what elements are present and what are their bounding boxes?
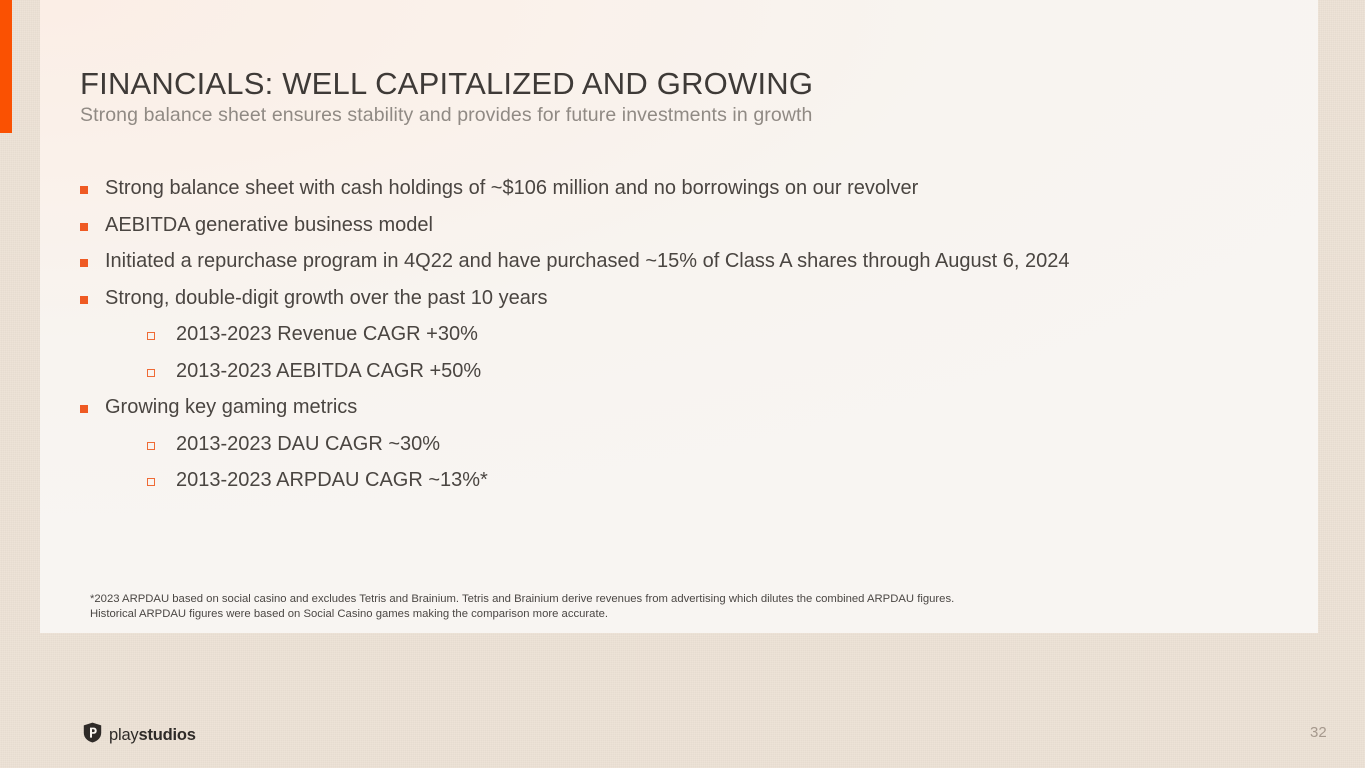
wordmark-play: play [109,726,138,744]
sub-list-item-label: 2013-2023 ARPDAU CAGR ~13%* [176,467,488,490]
list-item-label: Strong, double-digit growth over the pas… [105,285,547,308]
hollow-square-bullet-icon [147,442,155,450]
sub-list-item: 2013-2023 DAU CAGR ~30% [80,431,1288,468]
page-title: FINANCIALS: WELL CAPITALIZED AND GROWING [80,66,813,102]
sub-list-item-label: 2013-2023 DAU CAGR ~30% [176,431,440,454]
sub-list-item: 2013-2023 ARPDAU CAGR ~13%* [80,467,1288,504]
filled-square-bullet-icon [80,259,88,267]
page-number: 32 [1310,724,1327,741]
filled-square-bullet-icon [80,223,88,231]
footnote-line-1: *2023 ARPDAU based on social casino and … [90,592,1305,607]
playstudios-logo: playstudios [83,722,196,748]
hollow-square-bullet-icon [147,369,155,377]
sub-list-item-label: 2013-2023 Revenue CAGR +30% [176,321,478,344]
filled-square-bullet-icon [80,296,88,304]
filled-square-bullet-icon [80,186,88,194]
playstudios-shield-icon [83,722,102,748]
list-item: Strong balance sheet with cash holdings … [80,175,1288,212]
slide-footer [0,633,1365,768]
list-item-label: AEBITDA generative business model [105,212,433,235]
hollow-square-bullet-icon [147,332,155,340]
filled-square-bullet-icon [80,405,88,413]
list-item: Growing key gaming metrics [80,394,1288,431]
footnote: *2023 ARPDAU based on social casino and … [90,592,1305,623]
hollow-square-bullet-icon [147,478,155,486]
sub-list-item-label: 2013-2023 AEBITDA CAGR +50% [176,358,481,381]
footnote-line-2: Historical ARPDAU figures were based on … [90,607,1305,622]
bullet-list: Strong balance sheet with cash holdings … [80,175,1288,504]
sub-list-item: 2013-2023 Revenue CAGR +30% [80,321,1288,358]
list-item: Initiated a repurchase program in 4Q22 a… [80,248,1288,285]
wordmark-studios: studios [138,726,195,744]
list-item-label: Strong balance sheet with cash holdings … [105,175,918,198]
playstudios-wordmark: playstudios [109,727,196,744]
list-item-label: Growing key gaming metrics [105,394,357,417]
slide-content-card: FINANCIALS: WELL CAPITALIZED AND GROWING… [40,0,1318,633]
page-subtitle: Strong balance sheet ensures stability a… [80,104,812,127]
list-item: Strong, double-digit growth over the pas… [80,285,1288,322]
list-item-label: Initiated a repurchase program in 4Q22 a… [105,248,1070,271]
sub-list-item: 2013-2023 AEBITDA CAGR +50% [80,358,1288,395]
orange-accent-bar [0,0,12,133]
list-item: AEBITDA generative business model [80,212,1288,249]
